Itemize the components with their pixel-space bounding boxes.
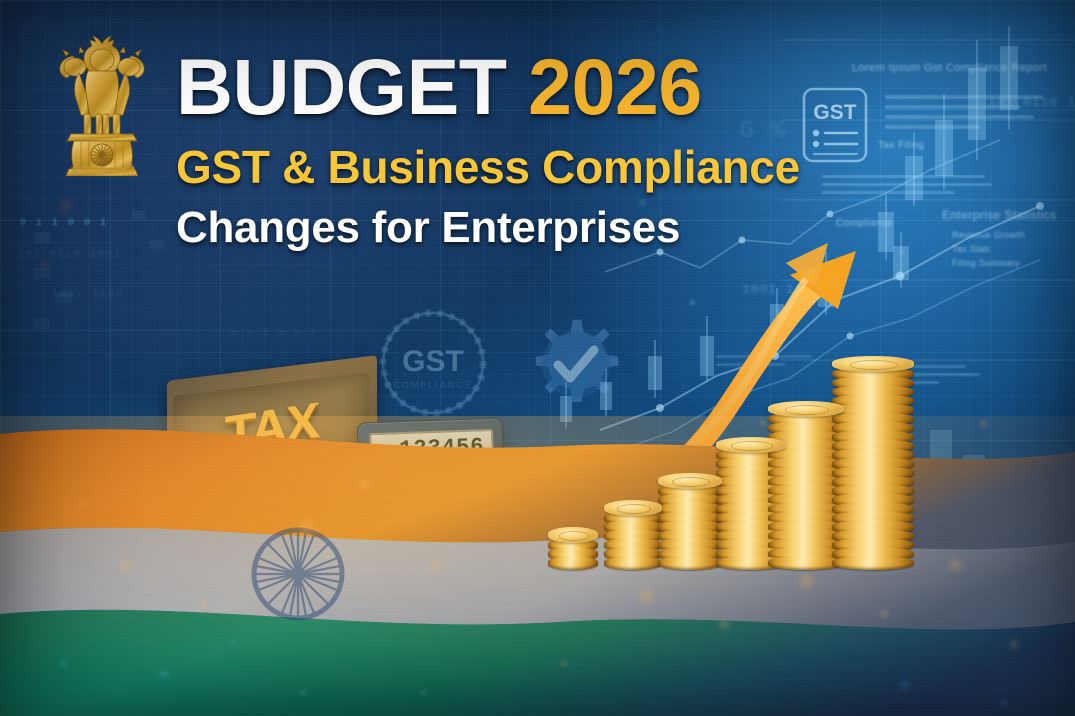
coin bbox=[604, 556, 662, 570]
coin-top bbox=[716, 437, 786, 453]
coin bbox=[658, 556, 722, 570]
coin bbox=[548, 556, 598, 570]
coin-stack bbox=[832, 358, 914, 570]
coin-top bbox=[548, 527, 598, 543]
budget-poster: Lorem Ipsum Gst Compliance Report Enterp… bbox=[0, 0, 1075, 716]
scanline-overlay bbox=[0, 0, 1075, 716]
coin-top bbox=[832, 356, 914, 372]
coin-top bbox=[658, 473, 722, 489]
coin-stack bbox=[604, 502, 662, 570]
coin-stack bbox=[548, 529, 598, 570]
coin-top bbox=[768, 401, 844, 417]
coin-stack bbox=[658, 475, 722, 570]
coin-top bbox=[604, 500, 662, 516]
coin bbox=[832, 556, 914, 570]
